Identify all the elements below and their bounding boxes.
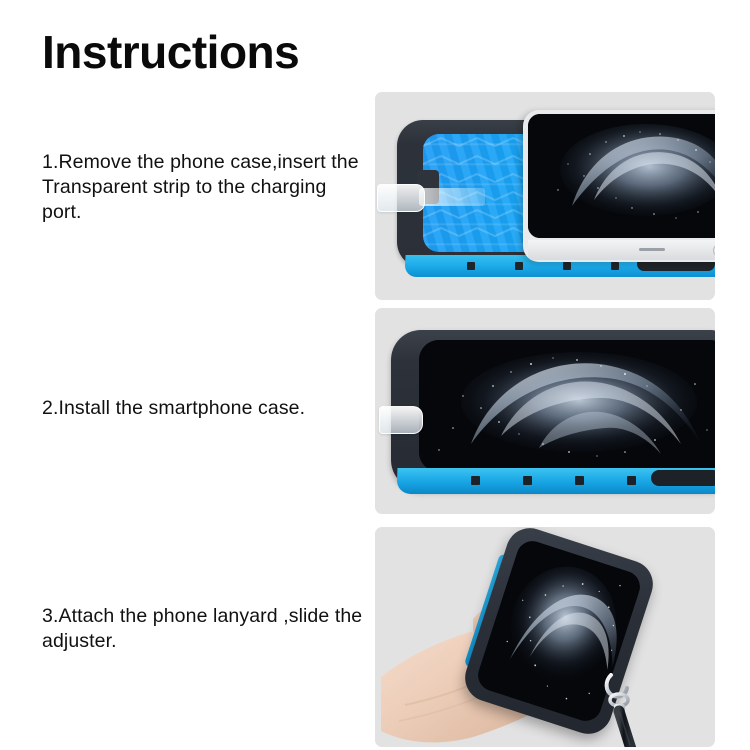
case-vent-slot [611,262,619,270]
step-1-text: 1.Remove the phone case,insert the Trans… [42,150,368,225]
step-2-image-panel [375,308,715,514]
wave-wallpaper-icon [528,114,715,238]
page-title: Instructions [42,29,299,75]
case-button-strip [651,470,715,486]
case-vent-slot [523,476,532,485]
transparent-strip [379,406,423,434]
transparent-strip [377,184,425,212]
case-vent-slot [563,262,571,270]
phone-speaker-grille [639,248,665,251]
step-3-text: 3.Attach the phone lanyard ,slide the ad… [42,604,368,654]
case-vent-slot [575,476,584,485]
case-vent-slot [627,476,636,485]
case-vent-slot [471,476,480,485]
transparent-strip-tail [419,188,485,206]
case-open-scene [375,92,715,300]
hand-holding-phone-scene [375,527,715,747]
step-2-text: 2.Install the smartphone case. [42,396,368,421]
step-1-image-panel [375,92,715,300]
phone-bottom-bezel [528,240,715,260]
wave-wallpaper-icon [419,340,715,472]
phone-installed-scene [375,308,715,514]
smartphone [523,110,715,262]
lanyard-icon [595,673,655,747]
phone-screen [528,114,715,238]
phone-screen [419,340,715,472]
case-vent-slot [515,262,523,270]
step-3-image-panel [375,527,715,747]
case-vent-slot [467,262,475,270]
